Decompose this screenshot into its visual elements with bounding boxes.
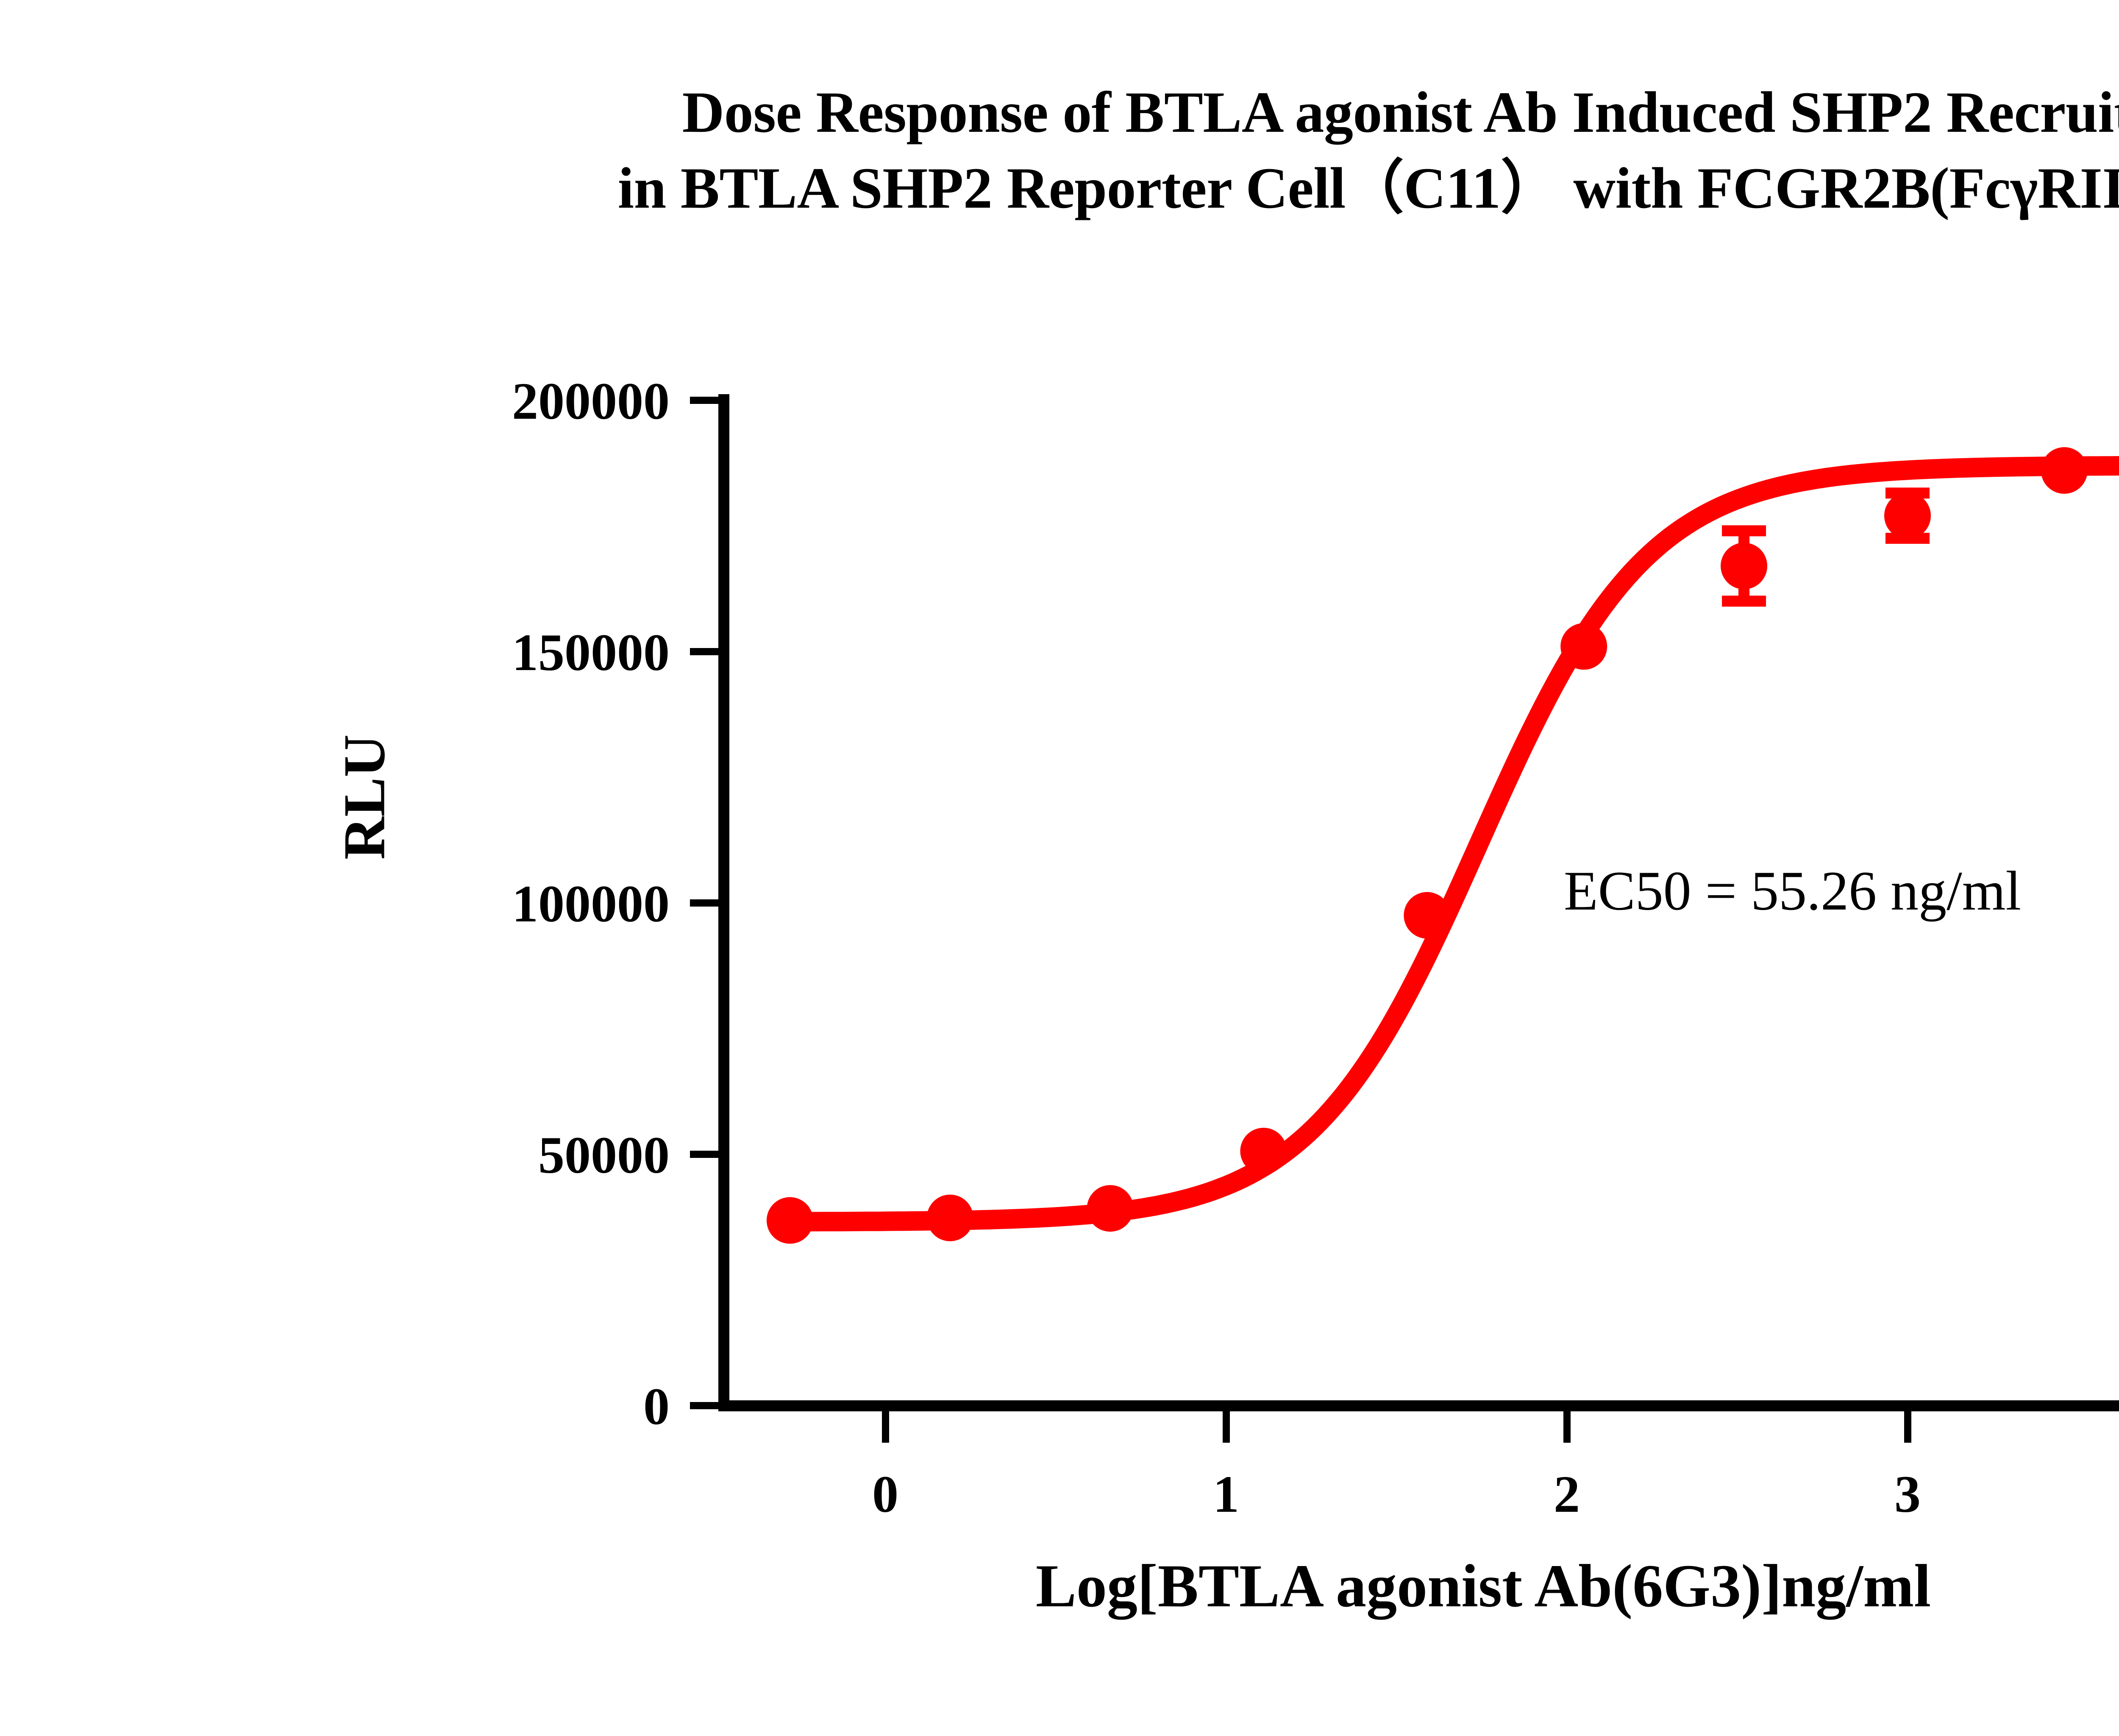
data-point <box>1404 892 1450 939</box>
x-axis-tick-label: 2 <box>1482 1464 1652 1525</box>
error-bars <box>1722 493 1930 601</box>
y-axis-tick-label: 50000 <box>432 1125 670 1185</box>
x-axis-tick-label: 0 <box>801 1464 970 1525</box>
x-axis-line <box>718 1400 2119 1411</box>
y-axis-line <box>718 394 729 1411</box>
data-point <box>1560 623 1607 670</box>
y-axis-tick-label: 200000 <box>432 371 670 431</box>
dose-response-figure: Dose Response of BTLA agonist Ab Induced… <box>0 0 2119 1736</box>
ec50-annotation: EC50 = 55.26 ng/ml <box>1564 858 2021 923</box>
x-axis-title: Log[BTLA agonist Ab(6G3)]ng/ml <box>424 1551 2119 1621</box>
y-axis-title: RLU <box>331 670 399 924</box>
data-point <box>1240 1128 1287 1174</box>
x-axis-tick <box>1223 1411 1230 1443</box>
y-axis-tick <box>690 1402 719 1409</box>
x-axis-tick-label: 1 <box>1141 1464 1311 1525</box>
data-point <box>927 1195 973 1241</box>
y-axis-tick <box>690 648 719 655</box>
data-point <box>767 1197 813 1244</box>
x-axis-tick <box>1563 1411 1571 1443</box>
y-axis-tick <box>690 899 719 907</box>
y-axis-tick-label: 0 <box>432 1377 670 1437</box>
x-axis-tick <box>882 1411 889 1443</box>
y-axis-tick <box>690 1151 719 1158</box>
y-axis-tick-label: 150000 <box>432 623 670 683</box>
data-point <box>1721 542 1767 589</box>
data-points <box>767 412 2119 1244</box>
x-axis-tick-label: 3 <box>1823 1464 1992 1525</box>
x-axis-tick <box>1904 1411 1911 1443</box>
page-title: Dose Response of BTLA agonist Ab Induced… <box>0 74 2119 226</box>
fit-curve <box>783 465 2119 1221</box>
data-point <box>1884 492 1931 539</box>
data-point <box>1087 1185 1134 1232</box>
y-axis-tick-label: 100000 <box>432 874 670 934</box>
data-point <box>2041 447 2088 494</box>
y-axis-tick <box>690 397 719 404</box>
